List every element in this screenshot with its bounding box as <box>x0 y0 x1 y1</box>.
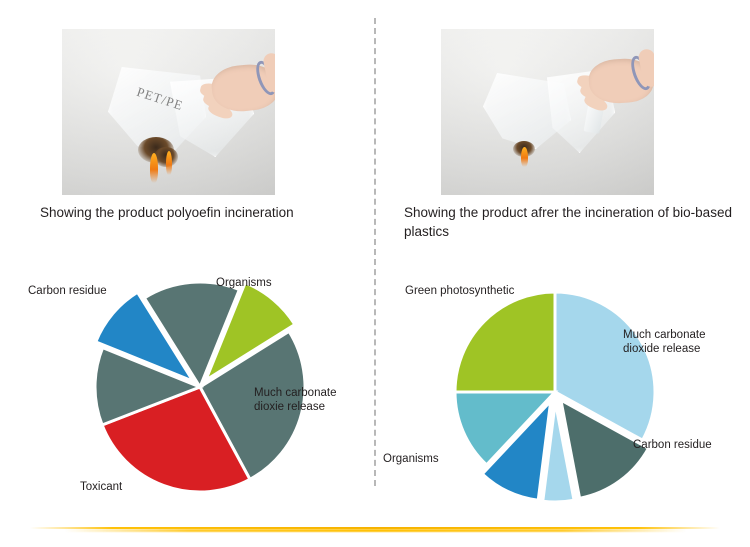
pie-slice <box>455 292 555 392</box>
photo-bio-based <box>441 29 654 195</box>
caption-polyolefin: Showing the product polyoefin incinerati… <box>40 203 360 222</box>
pie-right-svg <box>395 272 745 512</box>
pie-label-much-carbonate: Much carbonate dioxie release <box>254 386 336 414</box>
pie-label-organisms: Organisms <box>216 276 272 290</box>
flame-icon <box>150 153 158 183</box>
chart-bio-based-pie: Green photosynthetic Much carbonate diox… <box>395 272 745 512</box>
chart-polyolefin-pie: Carbon residue Organisms Much carbonate … <box>50 262 350 512</box>
pie-label-much-carbonate: Much carbonate dioxide release <box>623 328 705 356</box>
slide-root: PET/PE Showing the product polyoefin inc… <box>0 0 750 547</box>
vertical-divider <box>374 18 376 486</box>
pie-label-carbon-residue: Carbon residue <box>633 438 712 452</box>
pie-label-green-photosynthetic: Green photosynthetic <box>405 284 514 298</box>
pie-label-toxicant: Toxicant <box>80 480 122 494</box>
pie-label-organisms: Organisms <box>383 452 439 466</box>
flame-icon-secondary <box>166 151 172 175</box>
pie-label-carbon-residue: Carbon residue <box>28 284 107 298</box>
bottom-accent-rule <box>30 526 720 532</box>
photo-polyolefin: PET/PE <box>62 29 275 195</box>
caption-bio-based: Showing the product afrer the incinerati… <box>404 203 734 241</box>
flame-icon <box>521 147 528 167</box>
